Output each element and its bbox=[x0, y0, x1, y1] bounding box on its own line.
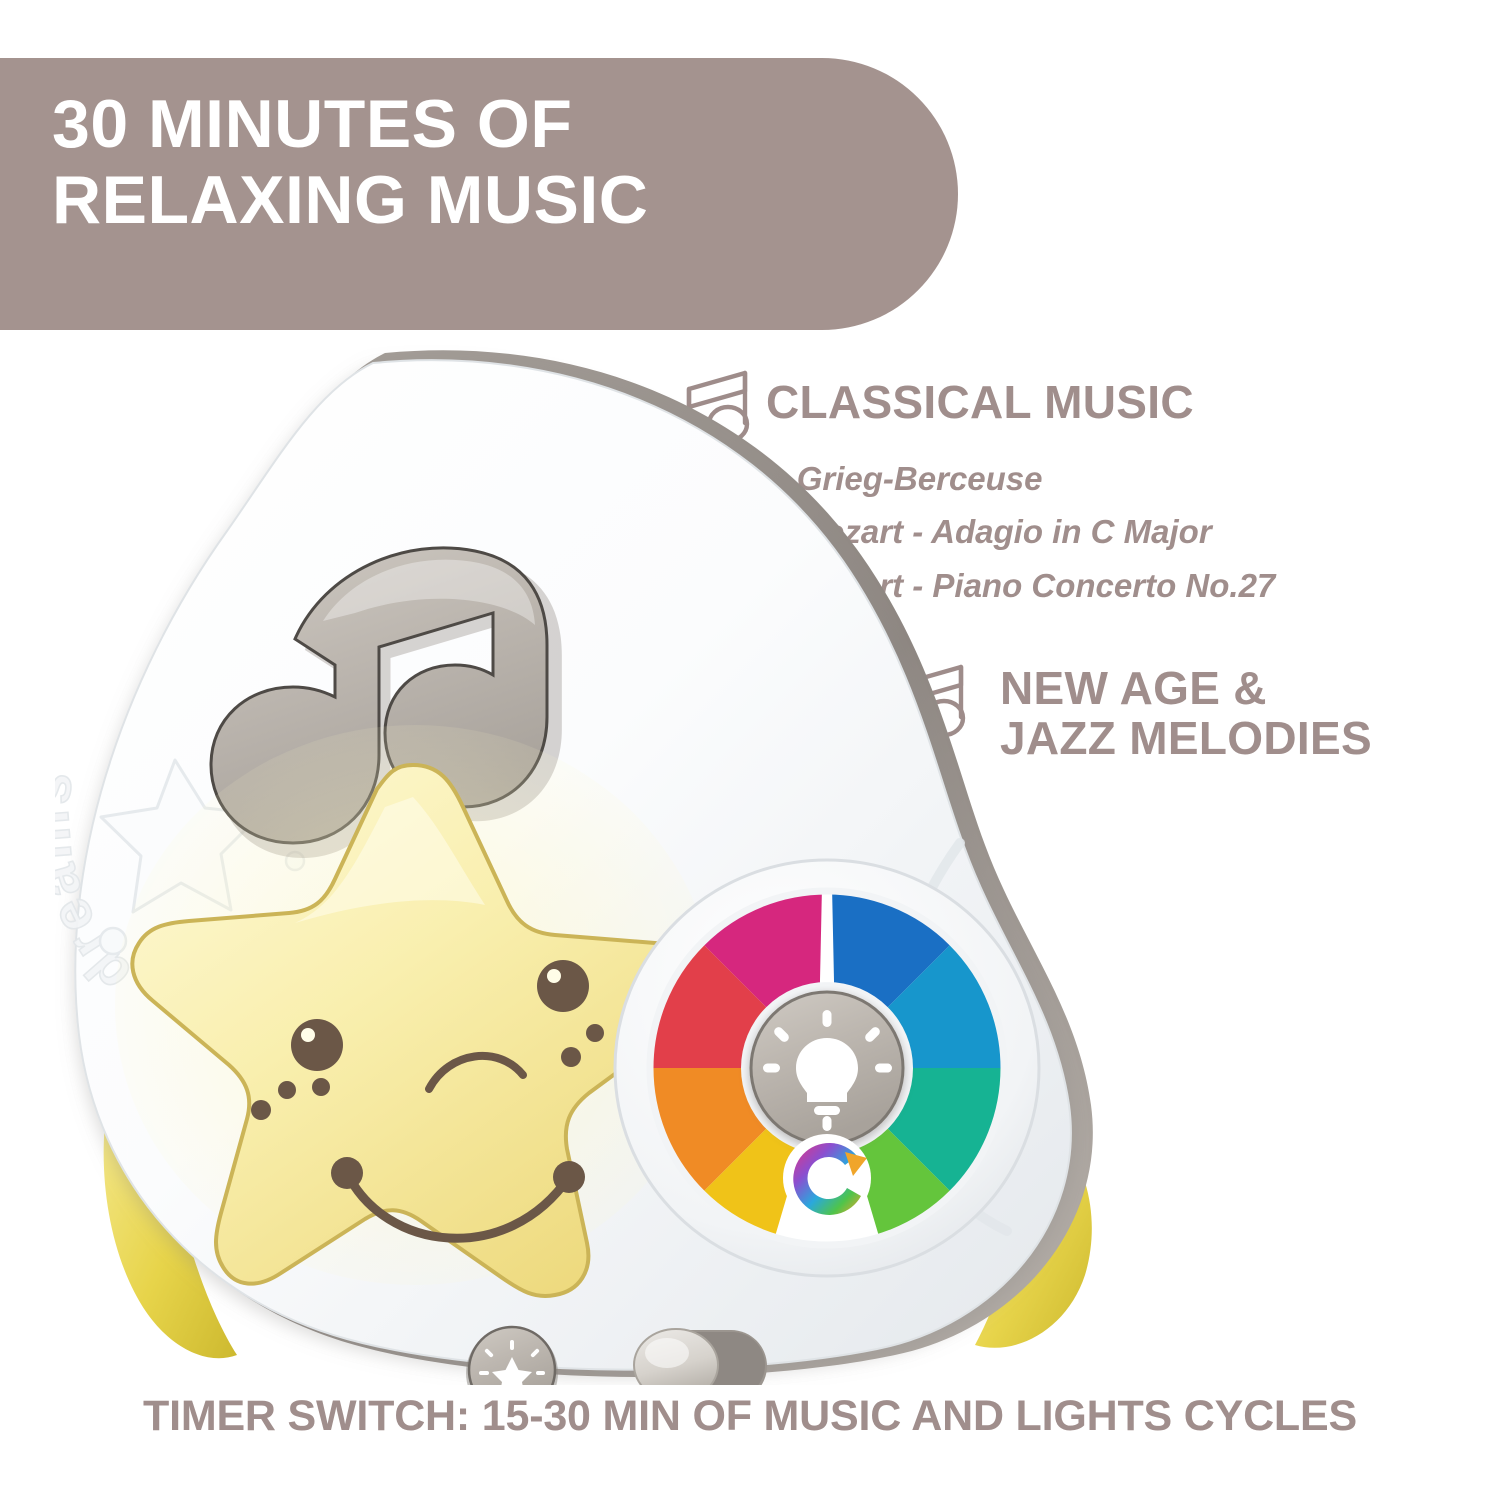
color-wheel-lightbulb-button[interactable] bbox=[741, 982, 913, 1154]
bottom-caption: TIMER SWITCH: 15-30 MIN OF MUSIC AND LIG… bbox=[0, 1392, 1500, 1441]
header-banner: 30 MINUTES OF RELAXING MUSIC bbox=[0, 58, 958, 330]
smile-end-dot bbox=[553, 1161, 585, 1193]
timer-slider[interactable]: 0 15 30 bbox=[626, 1329, 770, 1385]
product-image-soothe-glow: dreams bbox=[55, 345, 1135, 1385]
smile-end-dot bbox=[331, 1157, 363, 1189]
banner-line-1: 30 MINUTES OF bbox=[52, 86, 958, 162]
color-cycle-indicator bbox=[783, 1134, 871, 1222]
banner-line-2: RELAXING MUSIC bbox=[52, 162, 958, 238]
infographic-canvas: 30 MINUTES OF RELAXING MUSIC bbox=[0, 0, 1500, 1500]
color-wheel[interactable] bbox=[647, 886, 1007, 1250]
